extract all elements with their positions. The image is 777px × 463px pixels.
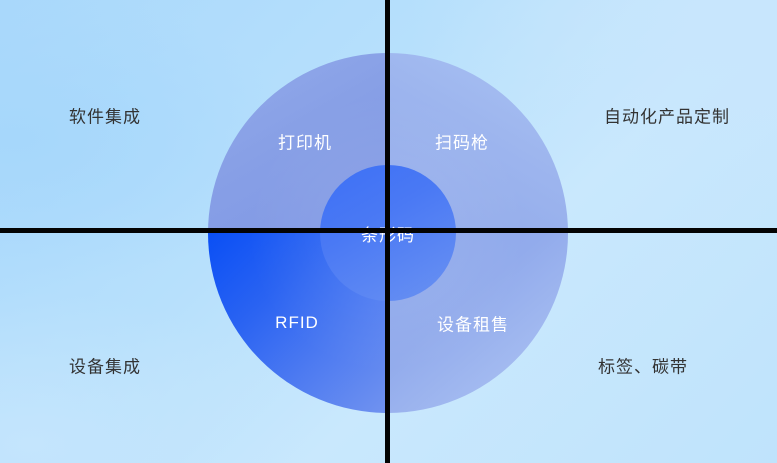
outer-label-automation-customization: 自动化产品定制 [604, 103, 730, 128]
segment-label-equipment-rental: 设备租售 [437, 311, 509, 336]
segment-label-rfid: RFID [275, 313, 319, 333]
diagram-canvas: 条形码 打印机 扫码枪 RFID 设备租售 软件集成 自动化产品定制 设备集成 … [0, 0, 777, 463]
segment-label-printer: 打印机 [278, 129, 332, 154]
outer-label-equipment-integration: 设备集成 [69, 353, 141, 378]
segment-label-barcode-scanner: 扫码枪 [435, 129, 489, 154]
horizontal-axis-line [0, 228, 777, 233]
outer-label-software-integration: 软件集成 [69, 103, 141, 128]
outer-label-labels-ribbons: 标签、碳带 [598, 353, 688, 378]
